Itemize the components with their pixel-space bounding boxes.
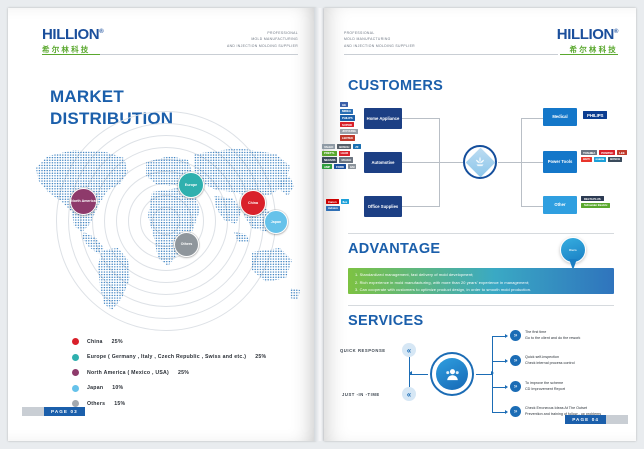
double-chevron-icon: » [510, 406, 521, 417]
map-bubble-japan[interactable]: Japan [264, 210, 288, 234]
connector [402, 162, 440, 163]
legend-percent: 10% [112, 385, 123, 391]
advantage-line-1: 1. Standardized management, fast deliver… [355, 271, 607, 279]
service-left-label-quick-response: QUICK RESPONSE [340, 348, 386, 353]
section-divider-1 [348, 233, 614, 234]
footer-right: PAGE 04 [565, 415, 628, 424]
legend-percent: 15% [114, 401, 125, 407]
category-label: Automotive [371, 160, 394, 165]
connector [492, 336, 506, 337]
connector [402, 118, 440, 119]
brand-logo: TOSHIBA [581, 150, 597, 155]
header-rule [100, 54, 298, 55]
category-label: Other [554, 202, 565, 207]
connector [476, 374, 492, 375]
connector [439, 118, 440, 162]
map-bubble-europe[interactable]: Europe [178, 172, 204, 198]
service-line-2: CD Improvement Report [525, 387, 565, 393]
connector [492, 387, 506, 388]
legend-dot-icon [72, 354, 79, 361]
world-dot-map [28, 128, 303, 313]
connector [498, 162, 522, 163]
legend-label: North America ( Mexico , USA) [87, 370, 169, 376]
legend-percent: 25% [112, 339, 123, 345]
double-chevron-icon: » [510, 381, 521, 392]
market-distribution-map: North America Europe China Japan Others [28, 128, 303, 313]
legend-item-north-america: North America ( Mexico , USA) 25% [72, 369, 302, 376]
logo-group-office: Canon flex Avision [326, 199, 362, 211]
category-label: Office Supplies [368, 204, 398, 209]
lotus-icon [473, 155, 487, 169]
footer-bar [22, 407, 44, 416]
connector [492, 412, 506, 413]
connector [439, 162, 440, 206]
brand-logo: LEDTEK [340, 135, 355, 140]
logo-group-home-appliance: GE MIDEA PHILIPS SUPOR JOYOUNG LEDTEK [340, 102, 362, 141]
brand-logo: PHILIPS [340, 115, 355, 120]
brand-logo: BOSCH [337, 144, 351, 149]
map-bubble-label: Japan [271, 220, 281, 224]
service-item-3[interactable]: » To improve the scheme CD Improvement R… [510, 381, 565, 393]
section-divider-2 [348, 305, 614, 306]
services-hub-icon [430, 352, 474, 396]
brand-logo: GM [348, 164, 356, 169]
section-title-advantage: ADVANTAGE [348, 241, 440, 257]
connector [492, 361, 506, 362]
page-number-right: PAGE 04 [565, 415, 606, 424]
service-left-label-just-in-time: JUST -IN -TIME [342, 392, 380, 397]
section-title-customers: CUSTOMERS [348, 78, 443, 94]
connector [410, 374, 428, 375]
map-bubble-others[interactable]: Others [174, 232, 199, 257]
arrow-left-icon [409, 371, 412, 375]
map-bubble-label: Others [181, 242, 193, 246]
legend-percent: 25% [178, 370, 189, 376]
brand-logo: LEAR [339, 151, 350, 156]
brand-logo: MIDEA [340, 109, 353, 114]
legend-dot-icon [72, 338, 79, 345]
brand-logo: LEE [617, 150, 626, 155]
legend-item-japan: Japan 10% [72, 385, 302, 392]
brand-logo: HILTI [581, 157, 592, 162]
logo-group-automotive: VALEO BOSCH ZF PRETTL LEAR NEXANS MAHLE … [322, 144, 362, 169]
brand-logo: Avision [326, 206, 340, 211]
tagline-line-3: AND INJECTION MOLDING SUPPLIER [344, 43, 484, 49]
pin-label: Ours [569, 248, 577, 252]
category-automotive[interactable]: Automotive [364, 152, 402, 173]
advantage-line-2: 2. Rich experience in mold manufacturing… [355, 279, 607, 287]
category-office-supplies[interactable]: Office Supplies [364, 196, 402, 217]
logo-group-medical: PHILIPS [583, 111, 629, 119]
legend-dot-icon [72, 369, 79, 376]
header-rule [344, 54, 558, 55]
legend-item-others: Others 15% [72, 400, 302, 407]
legend-percent: 25% [255, 354, 266, 360]
connector [521, 118, 543, 119]
brand-logo: Canon [326, 199, 339, 204]
brand-logo: BOSCH [608, 157, 622, 162]
advantage-pin: Ours [560, 237, 586, 271]
legend-label: China [87, 339, 103, 345]
category-label: Home Appliance [367, 116, 400, 121]
customers-hub-icon [463, 145, 497, 179]
legend-label: Japan [87, 385, 103, 391]
header-rule-accent [560, 54, 618, 55]
footer-bar [606, 415, 628, 424]
service-item-2[interactable]: » Quick self-inspection Check internal p… [510, 355, 575, 367]
brand-logo: POSITEC [599, 150, 615, 155]
page-number-left: PAGE 03 [44, 407, 85, 416]
customers-diagram: Home Appliance Automotive Office Supplie… [340, 96, 630, 228]
chevron-left-icon-jit: « [402, 387, 416, 401]
service-item-text: To improve the scheme CD Improvement Rep… [525, 381, 565, 393]
map-bubble-label: Europe [185, 183, 197, 187]
arrow-right-icon [505, 334, 508, 338]
legend-item-europe: Europe ( Germany , Italy , Czech Republi… [72, 354, 302, 361]
header-tagline-right: PROFESSIONAL MOLD MANUFACTURING AND INJE… [344, 30, 484, 49]
chevron-left-icon-quick: « [402, 343, 416, 357]
category-home-appliance[interactable]: Home Appliance [364, 108, 402, 129]
brand-logo: JOYOUNG [340, 129, 358, 134]
map-bubble-label: North America [71, 199, 96, 203]
tagline-line-3: AND INJECTION MOLDING SUPPLIER [178, 43, 298, 49]
legend-dot-icon [72, 385, 79, 392]
right-page-header: PROFESSIONAL MOLD MANUFACTURING AND INJE… [324, 22, 636, 62]
logo-wordmark: HILLION® [42, 26, 103, 43]
category-medical[interactable]: Medical [543, 108, 577, 126]
registered-mark: ® [614, 29, 618, 35]
double-chevron-icon: » [510, 330, 521, 341]
brand-logo: ZF [353, 144, 360, 149]
brand-logo: DELTA PLUS [581, 196, 604, 201]
connector [521, 206, 543, 207]
brand-logo: MAHLE [339, 157, 353, 162]
service-line-2: Go to the client and do the rework [525, 336, 580, 342]
logo-group-power-tools: TOSHIBA POSITEC LEE HILTI makita BOSCH [581, 150, 631, 162]
legend-label: Others [87, 401, 105, 407]
logo-right: HILLION® 希尔林科技 [557, 26, 618, 55]
title-line-1: MARKET [50, 86, 173, 108]
category-label: Medical [552, 114, 567, 119]
brand-logo: NEXANS [322, 157, 337, 162]
connector-trunk [492, 336, 493, 412]
arrow-right-icon [505, 410, 508, 414]
category-power-tools[interactable]: Power Tools [543, 151, 577, 173]
connector [521, 162, 543, 163]
advantage-line-3: 3. Can cooperate with customers to optim… [355, 286, 607, 294]
brand-logo: flex [341, 199, 350, 204]
brand-logo: makita [594, 157, 607, 162]
logo-wordmark: HILLION® [557, 26, 618, 43]
header-rule-accent [42, 54, 100, 55]
map-bubble-label: China [248, 201, 258, 205]
brand-logo-philips: PHILIPS [583, 111, 607, 119]
map-bubble-china[interactable]: China [240, 190, 266, 216]
brand-logo: VALEO [322, 144, 335, 149]
advantage-banner: 1. Standardized management, fast deliver… [348, 268, 614, 294]
category-label: Power Tools [548, 159, 573, 164]
brand-logo: PRETTL [322, 151, 337, 156]
legend-item-china: China 25% [72, 338, 302, 345]
map-bubble-north-america[interactable]: North America [70, 188, 97, 215]
brand-logo: SUPOR [340, 122, 354, 127]
legend-label: Europe ( Germany , Italy , Czech Republi… [87, 354, 246, 360]
user-group-icon [444, 366, 461, 383]
service-item-text: Quick self-inspection Check internal pro… [525, 355, 575, 367]
brand-logo: AMP [322, 164, 332, 169]
category-other[interactable]: Other [543, 196, 577, 214]
services-diagram: QUICK RESPONSE JUST -IN -TIME « « [340, 330, 636, 418]
brand-logo: FORD [334, 164, 346, 169]
logo-left: HILLION® 希尔林科技 [42, 26, 103, 55]
brand-logo: GE [340, 102, 348, 107]
arrow-right-icon [505, 385, 508, 389]
left-page-header: HILLION® 希尔林科技 PROFESSIONAL MOLD MANUFAC… [8, 22, 316, 62]
header-tagline-left: PROFESSIONAL MOLD MANUFACTURING AND INJE… [178, 30, 298, 49]
service-item-text: The first time Go to the client and do t… [525, 330, 580, 342]
arrow-right-icon [505, 359, 508, 363]
hub-inner [436, 358, 468, 390]
brand-logo: Schneider Electric [581, 203, 610, 208]
footer-left: PAGE 03 [22, 407, 85, 416]
logo-group-other: DELTA PLUS Schneider Electric [581, 196, 629, 208]
double-chevron-icon: » [510, 355, 521, 366]
brochure-spread: HILLION® 希尔林科技 PROFESSIONAL MOLD MANUFAC… [0, 0, 644, 449]
registered-mark: ® [99, 29, 103, 35]
connector [439, 162, 463, 163]
connector [402, 206, 440, 207]
section-title-services: SERVICES [348, 313, 423, 329]
service-line-2: Check internal process control [525, 361, 575, 367]
market-legend: China 25% Europe ( Germany , Italy , Cze… [72, 338, 302, 416]
service-item-1[interactable]: » The first time Go to the client and do… [510, 330, 580, 342]
page-left: HILLION® 希尔林科技 PROFESSIONAL MOLD MANUFAC… [8, 8, 316, 441]
